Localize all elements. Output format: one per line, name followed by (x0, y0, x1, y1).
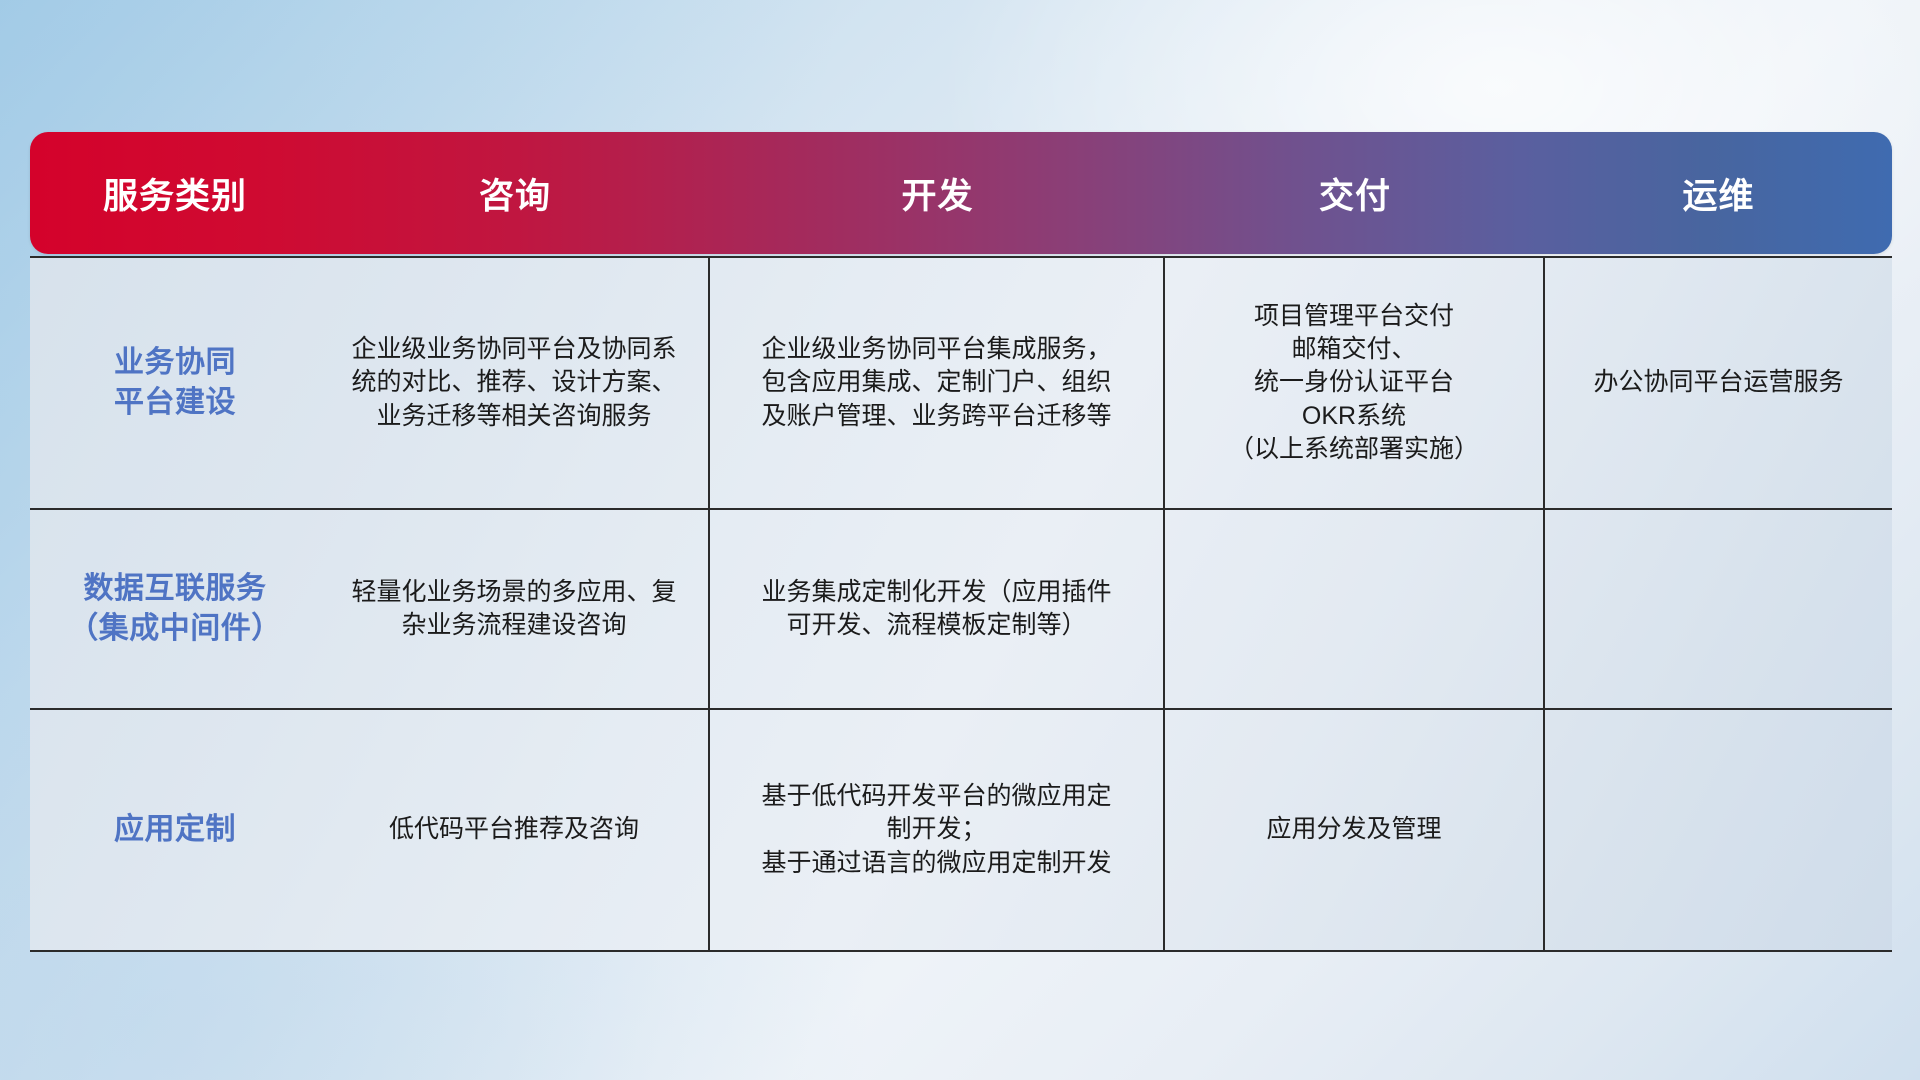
table-cell-consulting: 企业级业务协同平台及协同系 统的对比、推荐、设计方案、 业务迁移等相关咨询服务 (320, 258, 710, 508)
table-cell-development: 企业级业务协同平台集成服务， 包含应用集成、定制门户、组织 及账户管理、业务跨平… (710, 258, 1165, 508)
row-category-label: 应用定制 (30, 710, 320, 950)
table-row: 数据互联服务 （集成中间件） 轻量化业务场景的多应用、复 杂业务流程建设咨询 业… (30, 510, 1892, 710)
table-cell-delivery (1165, 510, 1545, 708)
column-header-consulting: 咨询 (320, 132, 710, 254)
table-cell-consulting: 轻量化业务场景的多应用、复 杂业务流程建设咨询 (320, 510, 710, 708)
table-cell-delivery: 项目管理平台交付 邮箱交付、 统一身份认证平台 OKR系统 （以上系统部署实施） (1165, 258, 1545, 508)
table-body: 业务协同 平台建设 企业级业务协同平台及协同系 统的对比、推荐、设计方案、 业务… (30, 256, 1892, 952)
slide-canvas: 服务类别 咨询 开发 交付 运维 业务协同 平台建设 企业级业务协同平台及协同系… (0, 0, 1920, 1080)
column-header-service-category: 服务类别 (30, 132, 320, 254)
table-cell-operations (1545, 710, 1892, 950)
table-header-row: 服务类别 咨询 开发 交付 运维 (30, 132, 1892, 254)
column-header-delivery: 交付 (1165, 132, 1545, 254)
row-category-label: 业务协同 平台建设 (30, 258, 320, 508)
column-header-label: 咨询 (479, 168, 551, 219)
column-header-label: 服务类别 (103, 168, 247, 219)
column-header-label: 交付 (1319, 168, 1391, 219)
table-cell-delivery: 应用分发及管理 (1165, 710, 1545, 950)
column-header-development: 开发 (710, 132, 1165, 254)
table-row: 业务协同 平台建设 企业级业务协同平台及协同系 统的对比、推荐、设计方案、 业务… (30, 258, 1892, 510)
table-cell-consulting: 低代码平台推荐及咨询 (320, 710, 710, 950)
column-header-label: 开发 (901, 168, 973, 219)
service-matrix-table: 服务类别 咨询 开发 交付 运维 业务协同 平台建设 企业级业务协同平台及协同系… (30, 132, 1892, 952)
table-cell-operations (1545, 510, 1892, 708)
table-cell-development: 业务集成定制化开发（应用插件 可开发、流程模板定制等） (710, 510, 1165, 708)
row-category-label: 数据互联服务 （集成中间件） (30, 510, 320, 708)
table-cell-development: 基于低代码开发平台的微应用定 制开发； 基于通过语言的微应用定制开发 (710, 710, 1165, 950)
column-header-label: 运维 (1682, 168, 1754, 219)
column-header-operations: 运维 (1545, 132, 1892, 254)
table-row: 应用定制 低代码平台推荐及咨询 基于低代码开发平台的微应用定 制开发； 基于通过… (30, 710, 1892, 952)
table-cell-operations: 办公协同平台运营服务 (1545, 258, 1892, 508)
